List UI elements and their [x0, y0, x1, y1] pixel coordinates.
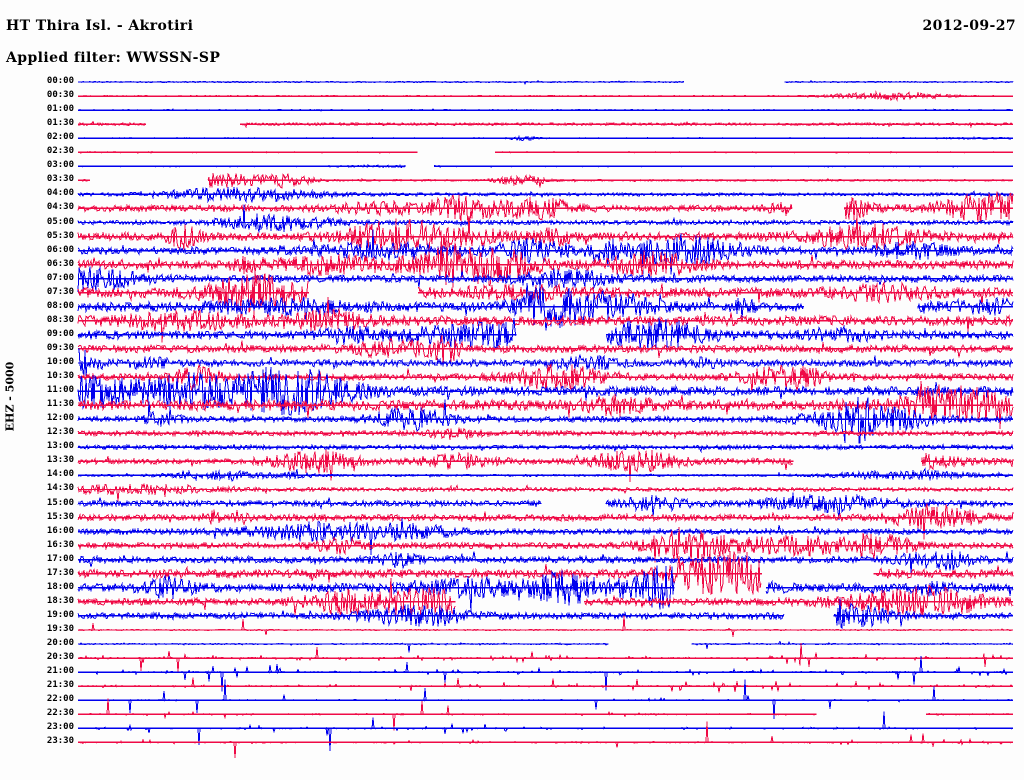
trace-1800 — [78, 566, 1013, 612]
trace-2030 — [78, 643, 1013, 672]
trace-2000 — [78, 642, 1013, 653]
trace-1430 — [78, 484, 1013, 502]
trace-2130 — [78, 678, 1013, 693]
trace-1600 — [78, 518, 1013, 555]
seismogram-page: HT Thira Isl. - Akrotiri 2012-09-27 Appl… — [0, 0, 1024, 780]
trace-1930 — [78, 616, 1013, 637]
trace-2200 — [78, 679, 1013, 719]
applied-filter-label: Applied filter: WWSSN-SP — [6, 50, 220, 66]
trace-canvas — [0, 78, 1024, 778]
helicorder-plot: 00:0000:3001:0001:3002:0002:3003:0003:30… — [0, 78, 1024, 778]
trace-1530 — [78, 504, 1013, 540]
page-title: HT Thira Isl. - Akrotiri — [6, 18, 193, 34]
trace-1900 — [78, 599, 1013, 628]
trace-2330 — [78, 721, 1013, 758]
trace-1830 — [78, 578, 1013, 618]
trace-1330 — [78, 450, 1013, 482]
record-date: 2012-09-27 — [922, 18, 1016, 34]
trace-2300 — [78, 711, 1013, 751]
